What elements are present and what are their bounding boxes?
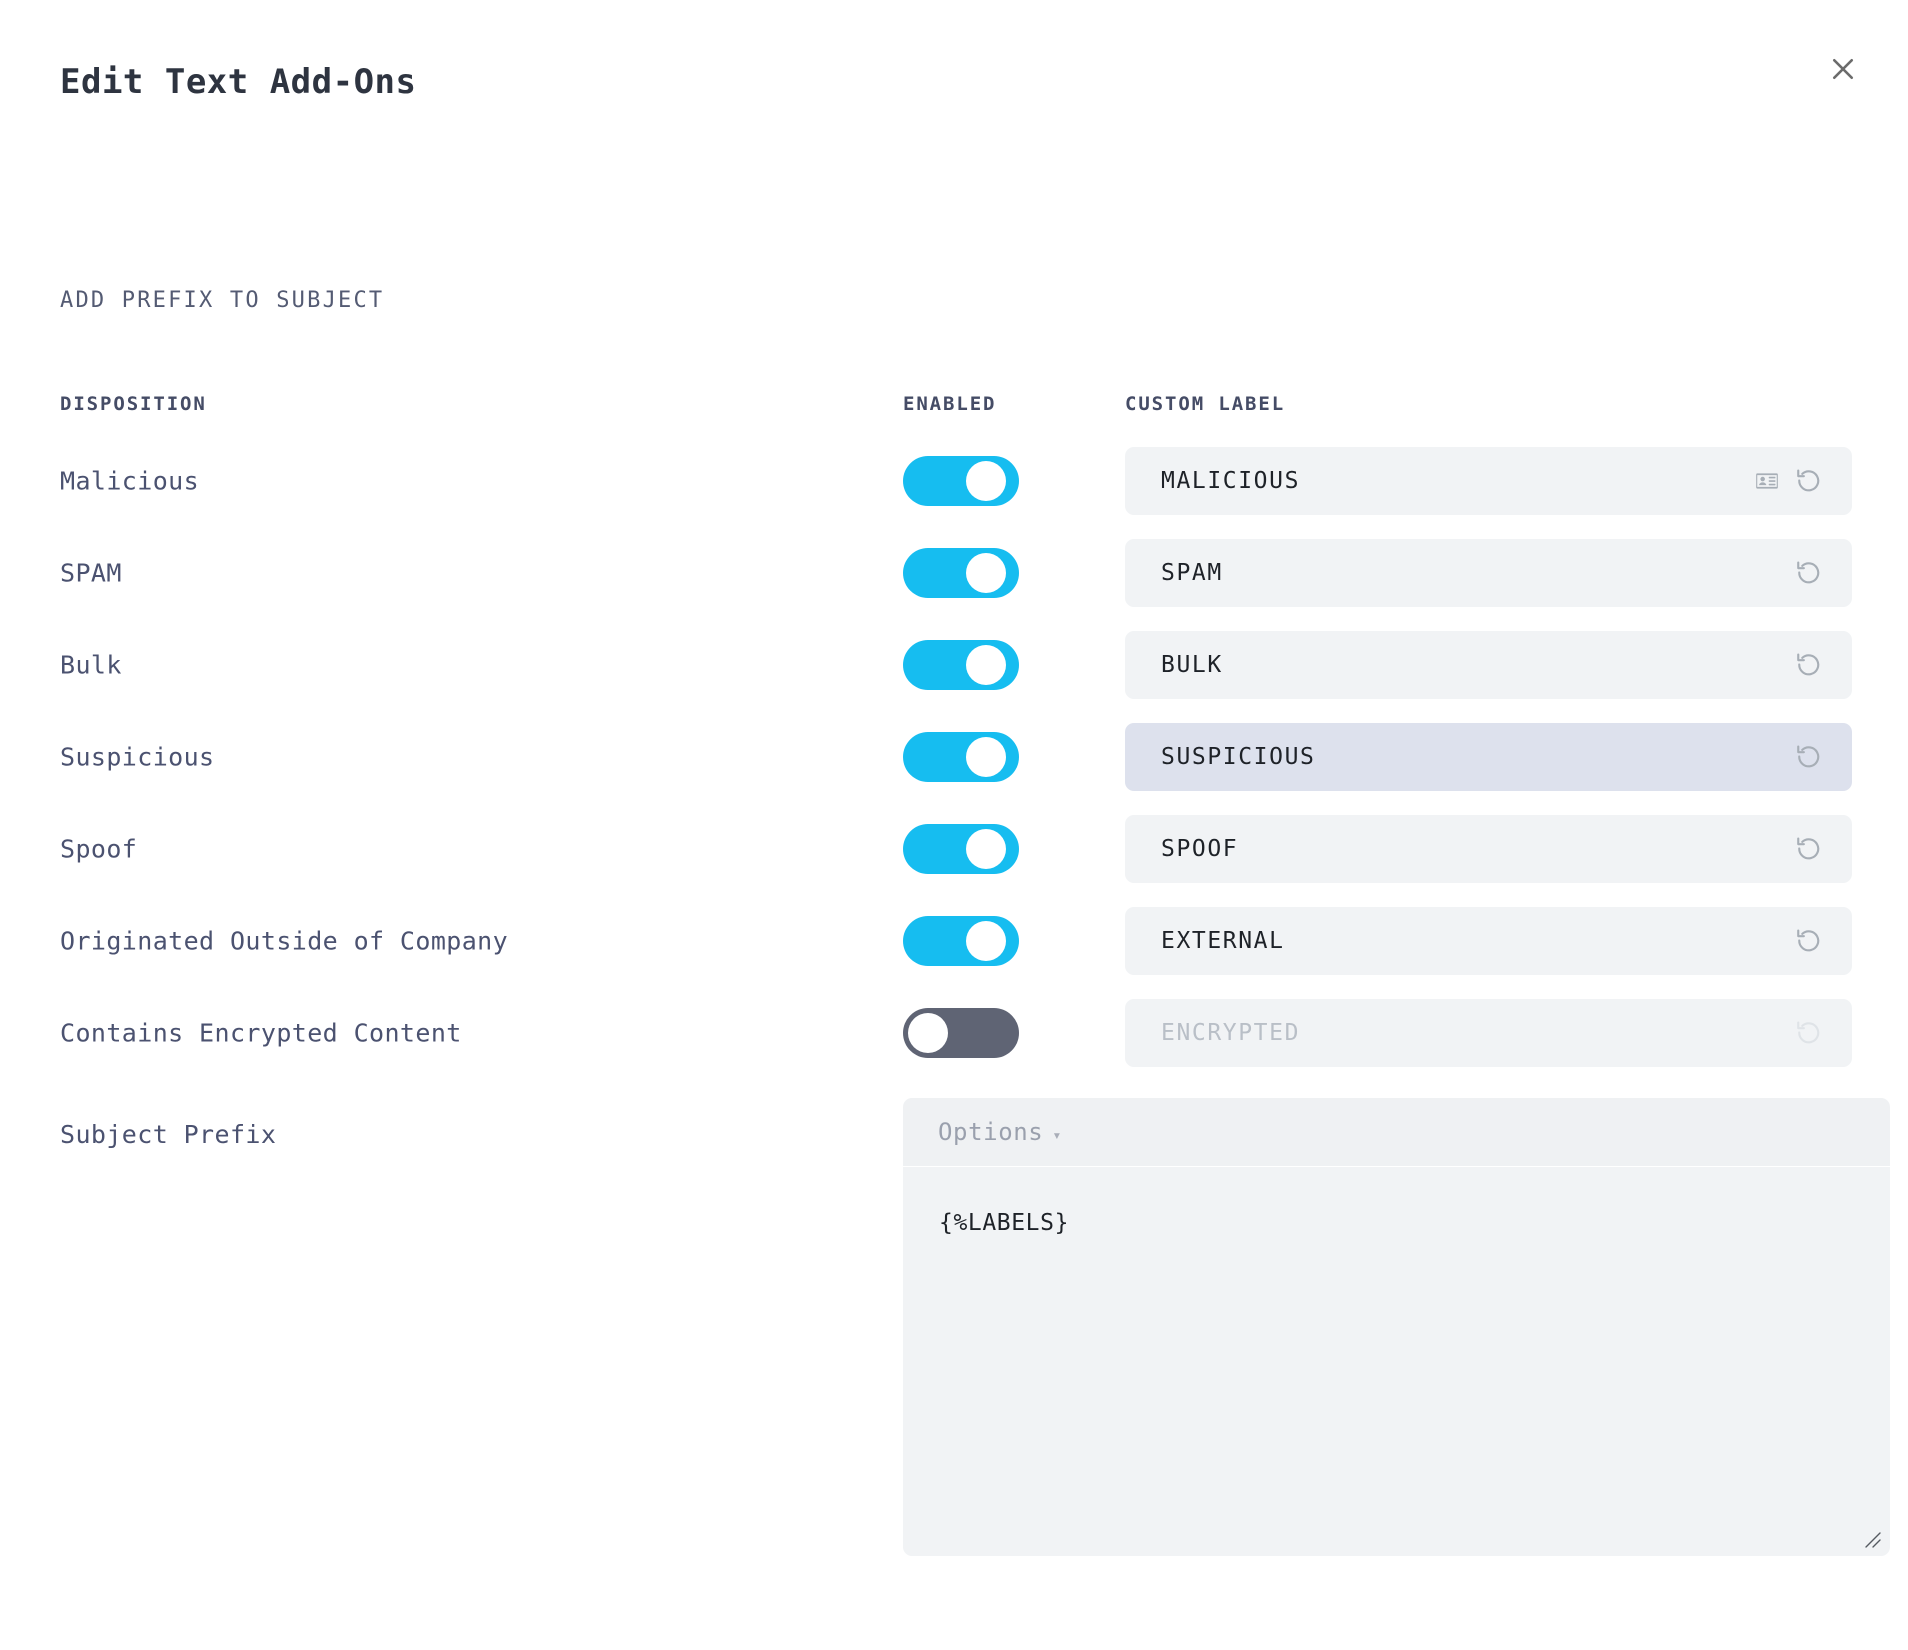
custom-label-value: SPAM bbox=[1125, 560, 1794, 586]
custom-label-value: BULK bbox=[1125, 652, 1794, 678]
enabled-toggle[interactable] bbox=[903, 732, 1019, 782]
custom-label-icons bbox=[1794, 650, 1852, 680]
page-title: Edit Text Add-Ons bbox=[60, 62, 417, 102]
reset-icon[interactable] bbox=[1794, 650, 1824, 680]
reset-icon[interactable] bbox=[1794, 742, 1824, 772]
disposition-label: Bulk bbox=[60, 651, 122, 680]
enabled-toggle[interactable] bbox=[903, 916, 1019, 966]
toggle-knob bbox=[966, 553, 1006, 593]
custom-label-value: EXTERNAL bbox=[1125, 928, 1794, 954]
custom-label-icons bbox=[1794, 926, 1852, 956]
custom-label-value: SUSPICIOUS bbox=[1125, 744, 1794, 770]
disposition-label: Malicious bbox=[60, 467, 199, 496]
section-heading: ADD PREFIX TO SUBJECT bbox=[60, 288, 384, 313]
custom-label-icons bbox=[1794, 558, 1852, 588]
custom-label-input[interactable]: MALICIOUS bbox=[1125, 447, 1852, 515]
reset-icon[interactable] bbox=[1794, 558, 1824, 588]
custom-label-input: ENCRYPTED bbox=[1125, 999, 1852, 1067]
subject-prefix-toolbar: Options ▾ bbox=[903, 1098, 1890, 1166]
enabled-toggle[interactable] bbox=[903, 548, 1019, 598]
disposition-label: Spoof bbox=[60, 835, 137, 864]
close-icon bbox=[1828, 54, 1858, 84]
contact-card-icon[interactable] bbox=[1754, 468, 1780, 494]
column-header-enabled: ENABLED bbox=[903, 393, 996, 415]
enabled-toggle[interactable] bbox=[903, 640, 1019, 690]
disposition-label: Originated Outside of Company bbox=[60, 927, 508, 956]
edit-text-addons-dialog: Edit Text Add-Ons ADD PREFIX TO SUBJECT … bbox=[0, 0, 1908, 1650]
toggle-knob bbox=[966, 645, 1006, 685]
custom-label-icons bbox=[1754, 466, 1852, 496]
column-header-custom-label: CUSTOM LABEL bbox=[1125, 393, 1285, 415]
custom-label-input[interactable]: BULK bbox=[1125, 631, 1852, 699]
table-row: MaliciousMALICIOUS bbox=[0, 443, 1908, 519]
options-dropdown-label: Options bbox=[938, 1118, 1043, 1146]
custom-label-icons bbox=[1794, 742, 1852, 772]
table-row: SuspiciousSUSPICIOUS bbox=[0, 719, 1908, 795]
custom-label-icons bbox=[1794, 1018, 1852, 1048]
disposition-label: Suspicious bbox=[60, 743, 215, 772]
enabled-toggle[interactable] bbox=[903, 456, 1019, 506]
reset-icon[interactable] bbox=[1794, 466, 1824, 496]
subject-prefix-textarea[interactable]: {%LABELS} bbox=[903, 1167, 1890, 1556]
disposition-label: SPAM bbox=[60, 559, 122, 588]
custom-label-input[interactable]: SUSPICIOUS bbox=[1125, 723, 1852, 791]
custom-label-value: SPOOF bbox=[1125, 836, 1794, 862]
subject-prefix-value: {%LABELS} bbox=[939, 1210, 1069, 1236]
toggle-knob bbox=[966, 737, 1006, 777]
options-dropdown[interactable]: Options ▾ bbox=[938, 1118, 1061, 1146]
table-row: Contains Encrypted ContentENCRYPTED bbox=[0, 995, 1908, 1071]
disposition-label: Contains Encrypted Content bbox=[60, 1019, 462, 1048]
custom-label-icons bbox=[1794, 834, 1852, 864]
toggle-knob bbox=[966, 921, 1006, 961]
subject-prefix-label: Subject Prefix bbox=[60, 1120, 276, 1149]
close-button[interactable] bbox=[1816, 42, 1870, 96]
enabled-toggle[interactable] bbox=[903, 824, 1019, 874]
toggle-knob bbox=[908, 1013, 948, 1053]
table-row: BulkBULK bbox=[0, 627, 1908, 703]
chevron-down-icon: ▾ bbox=[1052, 1128, 1061, 1143]
resize-grip-icon[interactable] bbox=[1860, 1527, 1882, 1549]
custom-label-value: ENCRYPTED bbox=[1125, 1020, 1794, 1046]
custom-label-input[interactable]: EXTERNAL bbox=[1125, 907, 1852, 975]
enabled-toggle[interactable] bbox=[903, 1008, 1019, 1058]
column-header-disposition: DISPOSITION bbox=[60, 393, 207, 415]
custom-label-input[interactable]: SPOOF bbox=[1125, 815, 1852, 883]
toggle-knob bbox=[966, 461, 1006, 501]
custom-label-input[interactable]: SPAM bbox=[1125, 539, 1852, 607]
table-row: SpoofSPOOF bbox=[0, 811, 1908, 887]
table-row: SPAMSPAM bbox=[0, 535, 1908, 611]
reset-icon[interactable] bbox=[1794, 926, 1824, 956]
table-row: Originated Outside of CompanyEXTERNAL bbox=[0, 903, 1908, 979]
custom-label-value: MALICIOUS bbox=[1125, 468, 1754, 494]
reset-icon[interactable] bbox=[1794, 834, 1824, 864]
reset-icon bbox=[1794, 1018, 1824, 1048]
toggle-knob bbox=[966, 829, 1006, 869]
